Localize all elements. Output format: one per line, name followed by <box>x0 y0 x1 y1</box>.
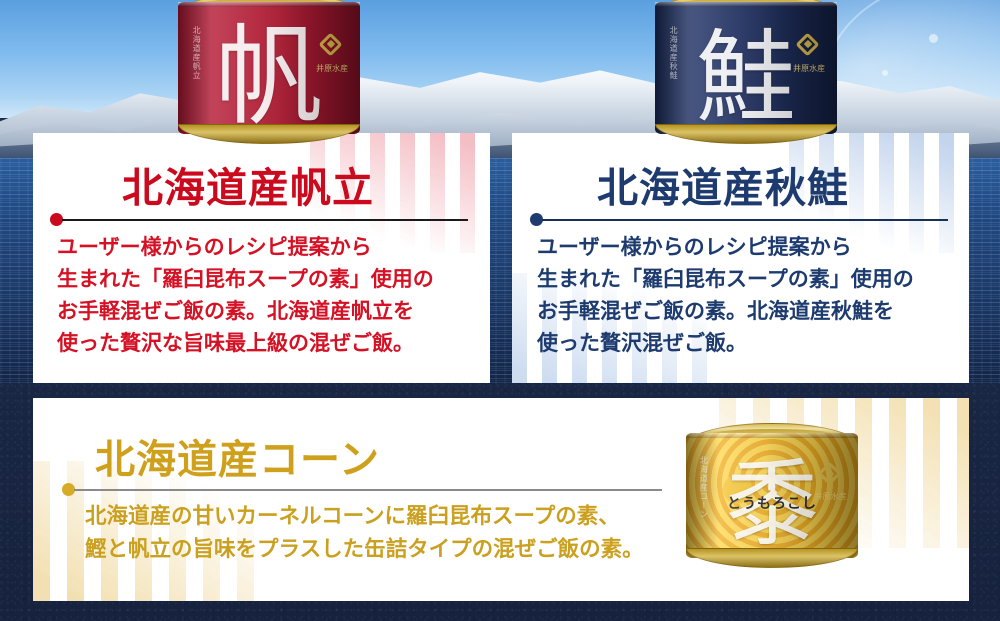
rule-line <box>542 219 948 221</box>
card-body-corn: 北海道産の甘いカーネルコーンに羅臼昆布スープの素、 鰹と帆立の旨味をプラスした缶… <box>85 500 695 565</box>
bubble-icon <box>882 70 888 76</box>
card-rule-scallop <box>50 213 468 226</box>
rule-line <box>62 219 468 221</box>
card-title-corn: 北海道産コーン <box>95 427 380 485</box>
rule-line <box>74 489 662 491</box>
card-body-scallop: ユーザー様からのレシピ提案から 生まれた「羅臼昆布スープの素」使用の お手軽混ぜ… <box>57 232 477 360</box>
bubble-icon <box>929 34 938 43</box>
can-base <box>686 548 858 568</box>
can-scallop: 北海道産帆立 帆 井原水産 <box>178 0 360 144</box>
card-rule-salmon <box>530 213 948 226</box>
card-rule-corn <box>62 483 662 496</box>
can-salmon: 北海道産秋鮭 鮭 井原水産 <box>655 0 837 144</box>
can-base <box>178 124 360 144</box>
can-body: 北海道産コーン 黍 とうもろこし 井原水産 <box>686 433 858 558</box>
can-gloss <box>686 433 858 558</box>
card-title-scallop: 北海道産帆立 <box>122 154 374 214</box>
can-body: 北海道産帆立 帆 井原水産 <box>178 2 360 134</box>
can-gloss <box>655 2 837 134</box>
can-body: 北海道産秋鮭 鮭 井原水産 <box>655 2 837 134</box>
card-body-salmon: ユーザー様からのレシピ提案から 生まれた「羅臼昆布スープの素」使用の お手軽混ぜ… <box>537 232 957 360</box>
can-base <box>655 124 837 144</box>
can-gloss <box>178 2 360 134</box>
can-corn: 北海道産コーン 黍 とうもろこし 井原水産 <box>686 423 858 568</box>
card-title-salmon: 北海道産秋鮭 <box>597 154 849 214</box>
